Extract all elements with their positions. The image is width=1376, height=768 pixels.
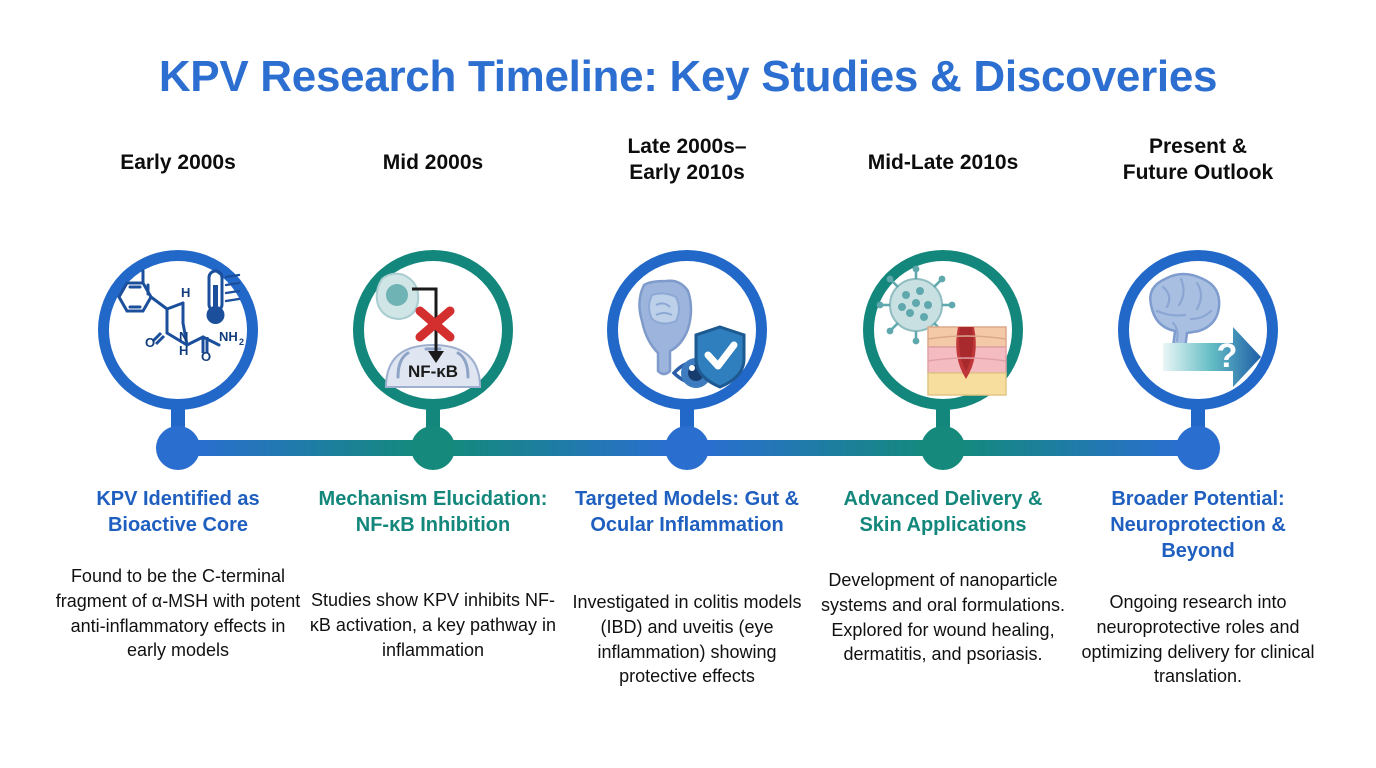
skin-cross-section-glyph: [928, 327, 1006, 395]
page-title: KPV Research Timeline: Key Studies & Dis…: [0, 52, 1376, 102]
stage-era-label: Early 2000s: [58, 150, 298, 176]
stage-description: Found to be the C-terminal fragment of α…: [54, 564, 302, 663]
stage-subtitle: Advanced Delivery & Skin Applications: [821, 486, 1065, 538]
cell-glyph: [377, 274, 419, 319]
intestine-glyph: [639, 281, 691, 374]
timeline-infographic: Early 2000s: [0, 150, 1376, 750]
stage-subtitle: Targeted Models: Gut & Ocular Inflammati…: [565, 486, 809, 538]
thermometer-glyph: [207, 271, 240, 324]
brain-future-arrow-icon: ?: [1129, 261, 1267, 399]
molecule-o2-label: O: [201, 349, 211, 364]
nfkb-label: NF-κB: [408, 362, 458, 381]
stage-icon-circle[interactable]: H N H O O NH 2: [98, 250, 258, 410]
molecule-h2-label: H: [179, 343, 188, 358]
stage-icon-circle[interactable]: ?: [1118, 250, 1278, 410]
molecule-o-label: O: [145, 335, 155, 350]
stage-subtitle: Mechanism Elucidation: NF-κB Inhibition: [311, 486, 555, 538]
nanoparticle-skin-wound-icon: [874, 261, 1012, 399]
gut-eye-shield-icon: [618, 261, 756, 399]
timeline-node[interactable]: [411, 426, 455, 470]
stage-description: Development of nanoparticle systems and …: [819, 568, 1067, 667]
molecule-nh2-label: NH: [219, 329, 238, 344]
shield-check-glyph: [696, 327, 744, 387]
molecule-thermometer-icon: H N H O O NH 2: [109, 261, 247, 399]
cell-nfkb-inhibition-icon: NF-κB: [364, 261, 502, 399]
stage-era-label: Mid 2000s: [313, 150, 553, 176]
timeline-node[interactable]: [156, 426, 200, 470]
stage-description: Studies show KPV inhibits NF-κB activati…: [309, 588, 557, 662]
stage-icon-circle[interactable]: [863, 250, 1023, 410]
molecule-h-label: H: [181, 285, 190, 300]
stage-description: Investigated in colitis models (IBD) and…: [563, 590, 811, 689]
molecule-n-label: N: [179, 329, 188, 344]
stage-era-label: Mid-Late 2010s: [823, 150, 1063, 176]
stage-icon-circle[interactable]: [607, 250, 767, 410]
timeline-node[interactable]: [1176, 426, 1220, 470]
stage-subtitle: Broader Potential: Neuroprotection & Bey…: [1076, 486, 1320, 564]
brain-glyph: [1150, 274, 1219, 352]
stage-icon-circle[interactable]: NF-κB: [353, 250, 513, 410]
stage-description: Ongoing research into neuroprotective ro…: [1074, 590, 1322, 689]
question-mark-label: ?: [1217, 337, 1238, 375]
timeline-node[interactable]: [921, 426, 965, 470]
stage-era-label: Present & Future Outlook: [1078, 134, 1318, 186]
timeline-node[interactable]: [665, 426, 709, 470]
stage-era-label: Late 2000s– Early 2010s: [567, 134, 807, 186]
molecule-nh2-subscript: 2: [239, 337, 244, 347]
stage-subtitle: KPV Identified as Bioactive Core: [56, 486, 300, 538]
